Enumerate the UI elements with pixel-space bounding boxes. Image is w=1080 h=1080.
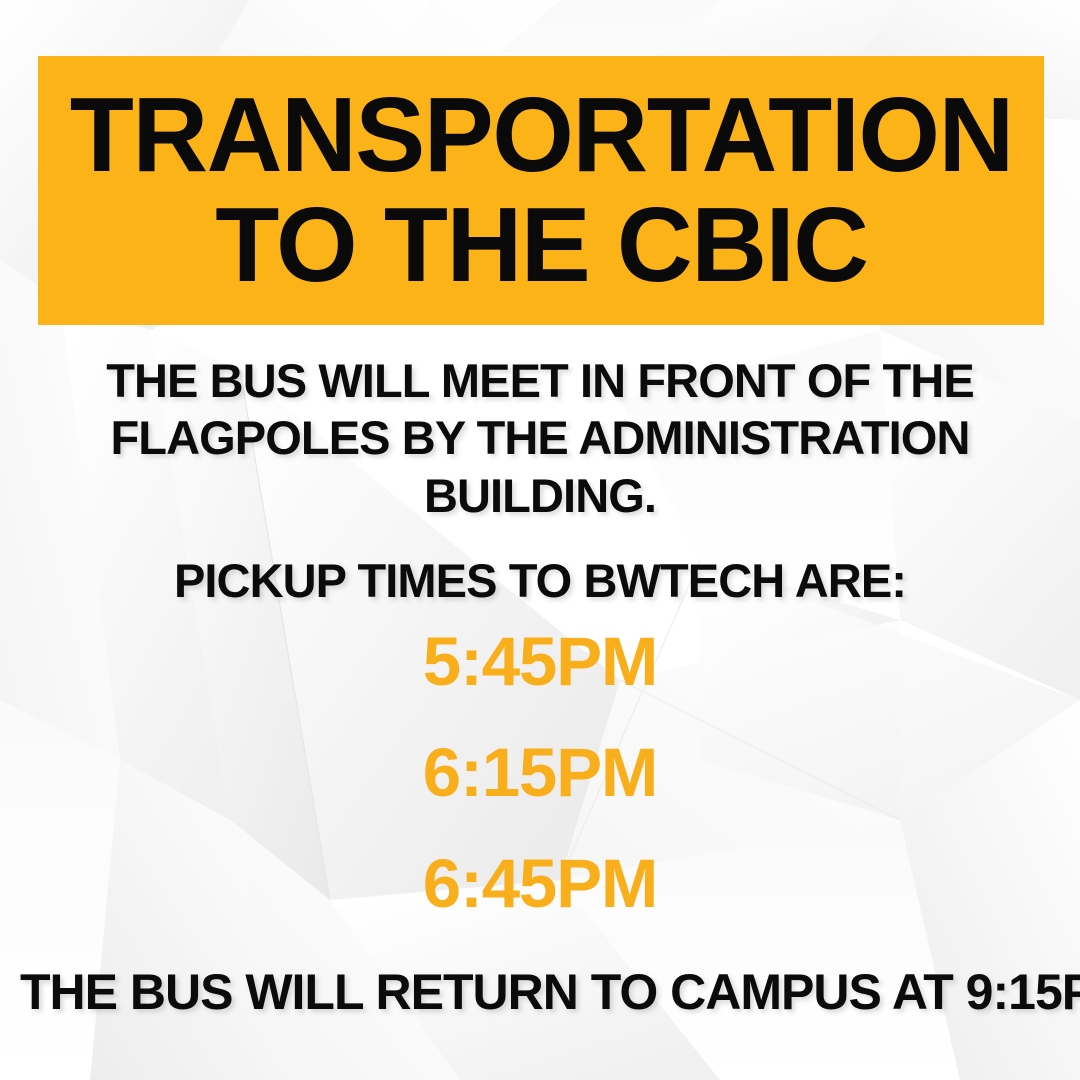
pickup-time-item: 6:15PM	[423, 738, 657, 807]
flyer-content: TRANSPORTATION TO THE CBIC THE BUS WILL …	[0, 0, 1080, 1080]
pickup-times-heading: PICKUP TIMES TO BWTECH ARE:	[50, 553, 1030, 609]
title-line-2: TO THE CBIC	[215, 191, 867, 300]
return-info-text: THE BUS WILL RETURN TO CAMPUS AT 9:15PM.	[20, 962, 1060, 1022]
pickup-time-item: 6:45PM	[423, 849, 657, 918]
meeting-info-text: THE BUS WILL MEET IN FRONT OF THE FLAGPO…	[50, 352, 1030, 524]
pickup-time-item: 5:45PM	[423, 627, 657, 696]
flyer-canvas: TRANSPORTATION TO THE CBIC THE BUS WILL …	[0, 0, 1080, 1080]
title-banner: TRANSPORTATION TO THE CBIC	[38, 56, 1044, 325]
title-line-1: TRANSPORTATION	[69, 81, 1012, 190]
pickup-times-list: 5:45PM 6:15PM 6:45PM	[50, 627, 1030, 918]
